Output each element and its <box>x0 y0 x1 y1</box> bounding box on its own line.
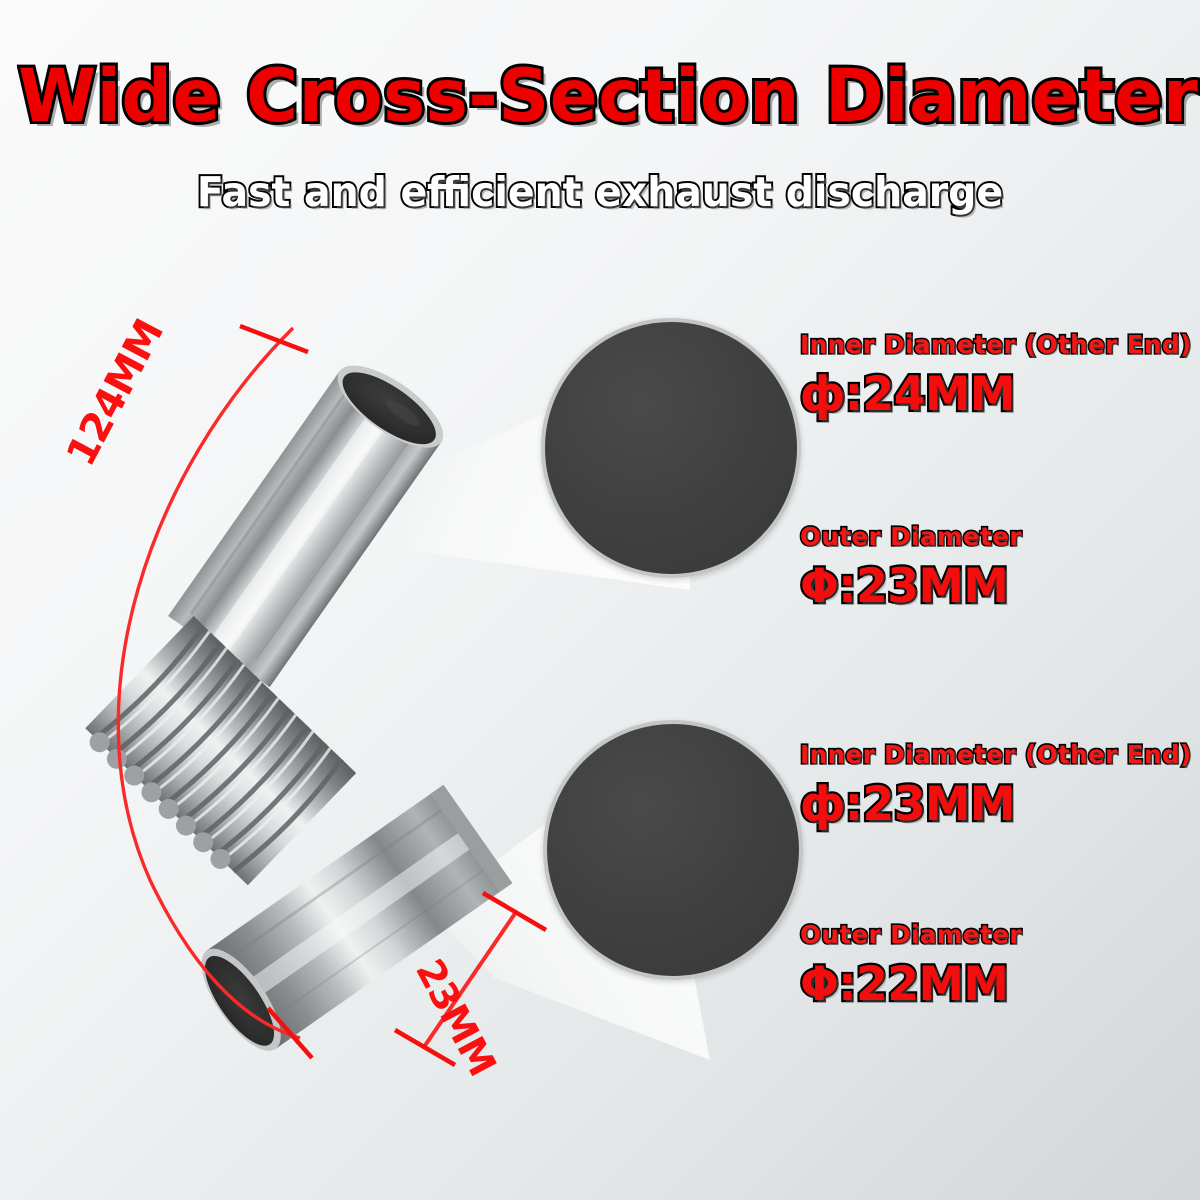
page-title: Wide Cross-Section Diameter <box>18 54 1182 139</box>
callout-label: Inner Diameter (Other End) <box>800 330 1192 359</box>
callout-value: ф:23MM <box>800 777 1188 832</box>
product-image-flexible-exhaust-pipe <box>70 300 590 1080</box>
callout-inner-diameter-top: Inner Diameter (Other End) ф:24MM <box>800 330 1200 422</box>
infographic-canvas: Wide Cross-Section Diameter Fast and eff… <box>0 0 1200 1200</box>
callout-value: Φ:23MM <box>800 559 1020 614</box>
callout-value: ф:24MM <box>800 367 1188 422</box>
callout-outer-diameter-bottom: Outer Diameter Φ:22MM <box>800 920 1026 1012</box>
callout-label: Inner Diameter (Other End) <box>800 740 1192 769</box>
callout-label: Outer Diameter <box>800 522 1022 551</box>
callout-outer-diameter-top: Outer Diameter Φ:23MM <box>800 522 1026 614</box>
callout-label: Outer Diameter <box>800 920 1022 949</box>
callout-inner-diameter-bottom: Inner Diameter (Other End) ф:23MM <box>800 740 1200 832</box>
page-subtitle: Fast and efficient exhaust discharge <box>24 168 1176 216</box>
callout-value: Φ:22MM <box>800 957 1020 1012</box>
